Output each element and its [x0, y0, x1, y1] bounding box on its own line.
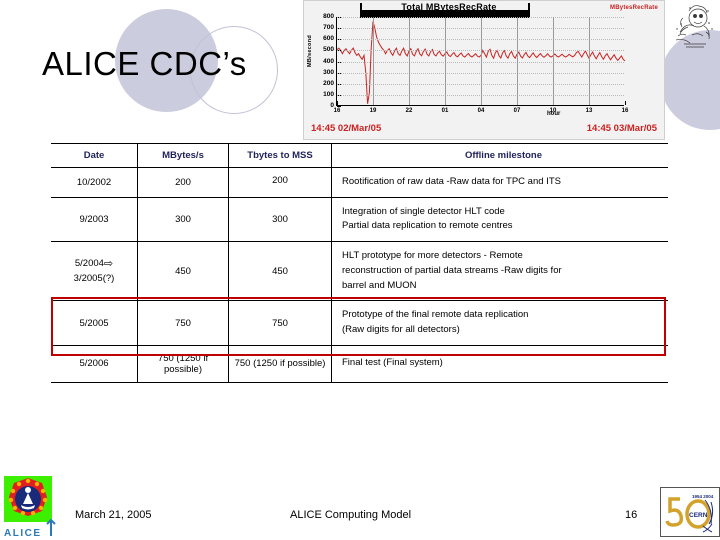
cern-logo-years: 1954 2004	[692, 494, 714, 499]
milestone-line: Rootification of raw data -Raw data for …	[342, 175, 663, 190]
cdc-rate-chart: Total MBytesRecRate MBytesRecRate MB/sec…	[303, 0, 665, 140]
cell-date: 5/2004⇨3/2005(?)	[51, 242, 138, 301]
chart-y-tick-label: 800	[323, 14, 334, 21]
cell-tbytes-to-mss: 200	[229, 168, 332, 198]
chart-y-tick-label: 700	[323, 25, 334, 32]
chart-x-tick-mark	[337, 101, 338, 105]
table-row: 9/2003300300Integration of single detect…	[51, 197, 668, 241]
table-body: 10/2002200200Rootification of raw data -…	[51, 168, 668, 383]
chart-gridline-vertical	[445, 17, 446, 105]
table-row: 5/2005750750Prototype of the final remot…	[51, 301, 668, 345]
chart-gridline-vertical	[409, 17, 410, 105]
footer-page-number: 16	[625, 509, 637, 521]
chart-gridline-vertical	[517, 17, 518, 105]
cern-50th-anniversary-logo: CERN 1954 2004	[660, 487, 720, 537]
chart-x-tick-label: 16	[334, 108, 341, 114]
cell-tbytes-to-mss: 750 (1250 if possible)	[229, 345, 332, 382]
milestone-line: barrel and MUON	[342, 279, 663, 294]
cell-mbytes-per-second: 450	[138, 242, 229, 301]
alice-experiment-logo: ALICE	[2, 474, 60, 538]
cell-tbytes-to-mss: 300	[229, 197, 332, 241]
chart-y-tick-label: 600	[323, 36, 334, 43]
cell-mbytes-per-second: 200	[138, 168, 229, 198]
cell-offline-milestone: HLT prototype for more detectors - Remot…	[332, 242, 669, 301]
chart-y-tick-label: 300	[323, 69, 334, 76]
chart-y-tick-label: 500	[323, 47, 334, 54]
column-header-mbytes: MBytes/s	[138, 144, 229, 168]
chart-y-tick-mark	[337, 106, 341, 107]
footer-presentation: ALICE Computing Model	[290, 509, 411, 521]
chart-y-tick-label: 400	[323, 58, 334, 65]
chart-gridline-vertical	[373, 17, 374, 105]
milestone-line: Prototype of the final remote data repli…	[342, 308, 663, 323]
chart-title: Total MBytesRecRate	[364, 2, 534, 12]
milestone-line: Final test (Final system)	[342, 356, 663, 371]
cell-mbytes-per-second: 750 (1250 if possible)	[138, 345, 229, 382]
cell-offline-milestone: Final test (Final system)	[332, 345, 669, 382]
column-header-tbytes: Tbytes to MSS	[229, 144, 332, 168]
cell-date: 5/2005	[51, 301, 138, 345]
table-row: 5/2006750 (1250 if possible)750 (1250 if…	[51, 345, 668, 382]
milestone-line: Partial data replication to remote centr…	[342, 219, 663, 234]
cell-offline-milestone: Prototype of the final remote data repli…	[332, 301, 669, 345]
chart-y-axis-label: MB/second	[307, 35, 313, 67]
chart-x-tick-label: 19	[370, 108, 377, 114]
chart-x-axis-label: hour	[547, 111, 560, 117]
milestone-line: (Raw digits for all detectors)	[342, 323, 663, 338]
milestone-line: HLT prototype for more detectors - Remot…	[342, 249, 663, 264]
chart-x-tick-label: 07	[514, 108, 521, 114]
cell-tbytes-to-mss: 750	[229, 301, 332, 345]
cdc-milestone-table: Date MBytes/s Tbytes to MSS Offline mile…	[51, 143, 668, 383]
table-row: 5/2004⇨3/2005(?)450450HLT prototype for …	[51, 242, 668, 301]
cell-date: 9/2003	[51, 197, 138, 241]
milestone-line: reconstruction of partial data streams -…	[342, 264, 663, 279]
chart-y-tick-label: 200	[323, 81, 334, 88]
chart-start-timestamp: 14:45 02/Mar/05	[311, 123, 381, 134]
table-header-row: Date MBytes/s Tbytes to MSS Offline mile…	[51, 144, 668, 168]
alice-wonderland-sketch-icon	[668, 2, 718, 58]
milestone-line: Integration of single detector HLT code	[342, 205, 663, 220]
cell-tbytes-to-mss: 450	[229, 242, 332, 301]
chart-x-tick-mark	[625, 101, 626, 105]
column-header-date: Date	[51, 144, 138, 168]
chart-y-tick-label: 100	[323, 92, 334, 99]
alice-logo-text: ALICE	[4, 528, 42, 538]
chart-x-tick-label: 13	[586, 108, 593, 114]
table-header: Date MBytes/s Tbytes to MSS Offline mile…	[51, 144, 668, 168]
cell-date: 5/2006	[51, 345, 138, 382]
chart-plot-area: 0100200300400500600700800161922010407101…	[336, 17, 624, 106]
column-header-milestone: Offline milestone	[332, 144, 669, 168]
chart-gridline-vertical	[481, 17, 482, 105]
chart-x-tick-label: 04	[478, 108, 485, 114]
chart-x-tick-label: 16	[622, 108, 629, 114]
cell-offline-milestone: Rootification of raw data -Raw data for …	[332, 168, 669, 198]
page-title: ALICE CDC’s	[42, 45, 247, 83]
cell-mbytes-per-second: 300	[138, 197, 229, 241]
right-arrow-icon: ⇨	[104, 260, 113, 269]
chart-legend-entry: MBytesRecRate	[610, 5, 658, 11]
chart-gridline-vertical	[589, 17, 590, 105]
chart-end-timestamp: 14:45 03/Mar/05	[587, 123, 657, 134]
table-row: 10/2002200200Rootification of raw data -…	[51, 168, 668, 198]
chart-x-tick-label: 01	[442, 108, 449, 114]
chart-x-tick-label: 22	[406, 108, 413, 114]
cern-logo-text: CERN	[689, 512, 708, 519]
chart-gridline-vertical	[553, 17, 554, 105]
cell-offline-milestone: Integration of single detector HLT codeP…	[332, 197, 669, 241]
footer-date: March 21, 2005	[75, 509, 151, 521]
cell-mbytes-per-second: 750	[138, 301, 229, 345]
cell-date: 10/2002	[51, 168, 138, 198]
